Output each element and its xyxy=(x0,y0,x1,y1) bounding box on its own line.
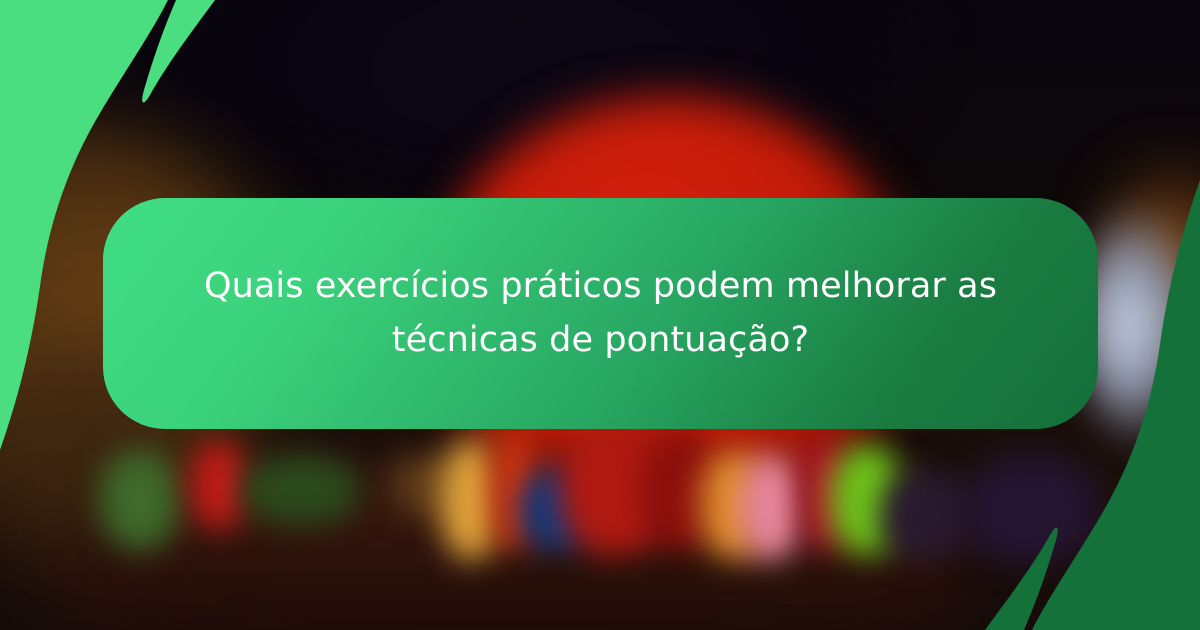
background-blob-toy-darkgreen xyxy=(240,455,360,525)
question-card: Quais exercícios práticos podem melhorar… xyxy=(103,198,1098,429)
share-card-canvas: Quais exercícios práticos podem melhorar… xyxy=(0,0,1200,630)
question-text: Quais exercícios práticos podem melhorar… xyxy=(201,260,1001,366)
background-blob-toy-green xyxy=(100,450,180,550)
